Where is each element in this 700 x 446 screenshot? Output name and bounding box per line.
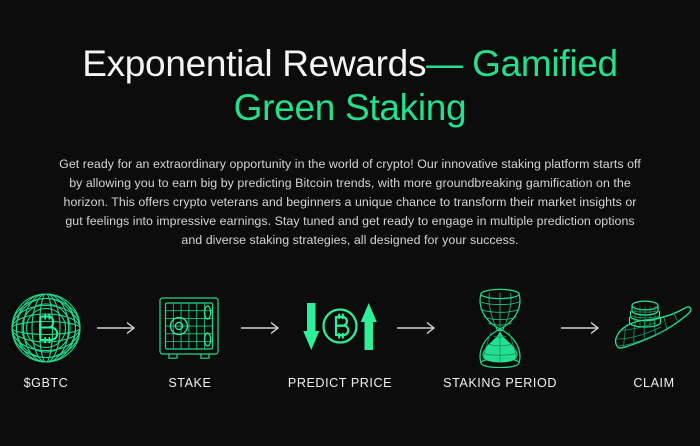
flow-label-claim: CLAIM [633,376,674,390]
bitcoin-coin-wireframe-icon [9,287,83,369]
page-title-dash: — [426,43,462,84]
hero-paragraph: Get ready for an extraordinary opportuni… [57,155,643,251]
bitcoin-up-down-arrows-icon [294,287,386,369]
arrow-right-icon-3 [392,287,444,369]
flow-label-stake: STAKE [168,376,211,390]
hand-holding-coins-wireframe-icon [611,287,697,369]
arrow-down-icon [303,303,319,350]
flow-label-gbtc: $GBTC [24,376,69,390]
arrow-right-icon-2 [236,287,288,369]
bitcoin-circle-icon [323,309,356,342]
flow-step-claim: CLAIM [608,287,700,390]
flow-step-gbtc: $GBTC [0,287,92,390]
flow-step-staking-period: STAKING PERIOD [444,287,556,390]
staking-flow-diagram: $GBTC [0,287,700,417]
flow-label-predict-price: PREDICT PRICE [288,376,392,390]
page-root: Exponential Rewards— Gamified Green Stak… [0,25,700,446]
arrow-up-icon [361,303,377,350]
flow-step-predict-price: PREDICT PRICE [288,287,392,390]
arrow-right-icon-1 [92,287,144,369]
flow-step-stake: STAKE [144,287,236,390]
arrow-right-icon-4 [556,287,608,369]
safe-vault-wireframe-icon [154,287,226,369]
hourglass-wireframe-icon [469,287,531,369]
page-title-white-part: Exponential Rewards [82,43,426,84]
page-title: Exponential Rewards— Gamified Green Stak… [0,25,700,130]
flow-label-staking-period: STAKING PERIOD [443,376,557,390]
